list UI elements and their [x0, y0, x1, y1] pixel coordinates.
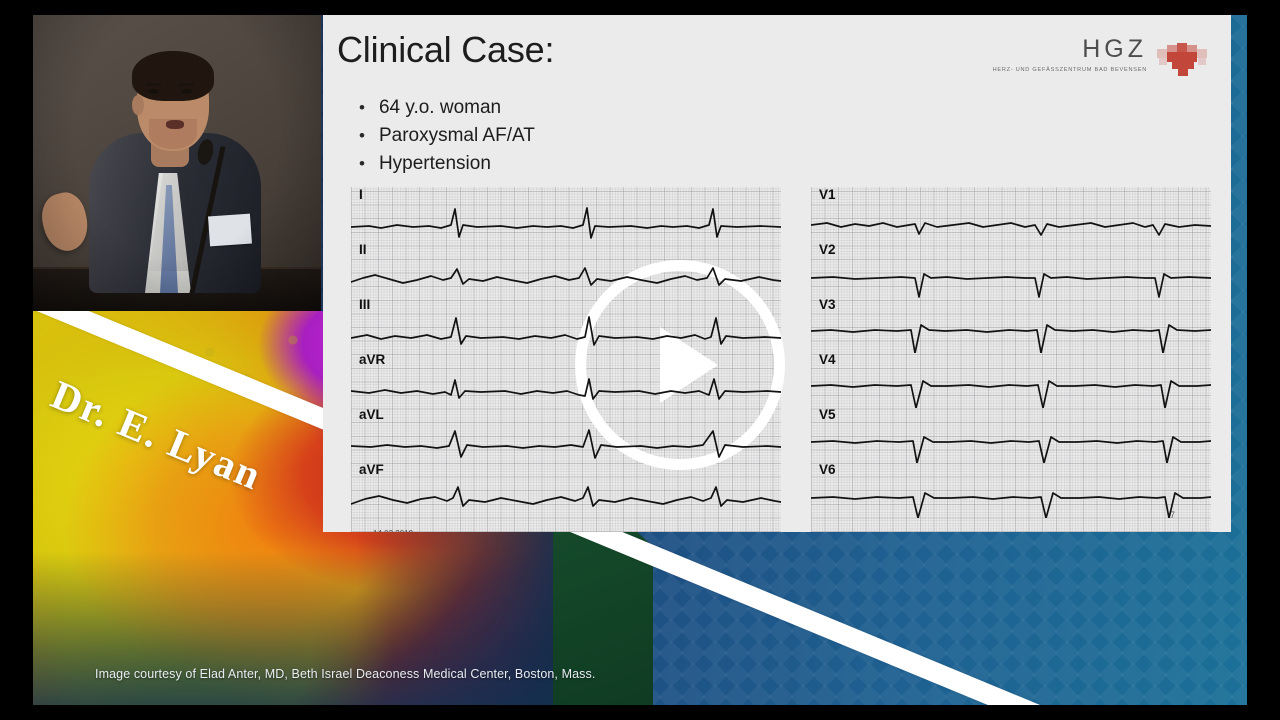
- ecg-lead-label: III: [359, 297, 370, 312]
- ecg-lead-II: II: [351, 242, 781, 297]
- hgz-subtitle: HERZ- UND GEFÄSSZENTRUM BAD BEVENSEN: [993, 67, 1147, 73]
- ecg-lead-label: V6: [819, 462, 836, 477]
- ecg-lead-I: I: [351, 187, 781, 242]
- bullet-text: 64 y.o. woman: [379, 97, 501, 119]
- ecg-lead-V1: V1: [811, 187, 1211, 242]
- ecg-lead-label: aVL: [359, 407, 384, 422]
- hgz-logo-text: HGZ HERZ- UND GEFÄSSZENTRUM BAD BEVENSEN: [993, 37, 1147, 73]
- bullet-marker-icon: •: [359, 127, 365, 144]
- ecg-lead-label: aVR: [359, 352, 385, 367]
- ecg-lead-label: V5: [819, 407, 836, 422]
- ecg-lead-label: V3: [819, 297, 836, 312]
- ecg-lead-label: V4: [819, 352, 836, 367]
- presentation-slide: Clinical Case: HGZ HERZ- UND GEFÄSSZENTR…: [323, 15, 1231, 532]
- hgz-logo: HGZ HERZ- UND GEFÄSSZENTRUM BAD BEVENSEN: [993, 37, 1215, 77]
- ecg-precordial-leads-column: V1 V2 V3 V4 V5: [811, 187, 1211, 532]
- ecg-lead-aVF: aVF: [351, 462, 781, 517]
- ecg-lead-label: II: [359, 242, 367, 257]
- ecg-lead-label: I: [359, 187, 363, 202]
- heart-icon: [1157, 39, 1215, 77]
- slide-bullet-list: • 64 y.o. woman • Paroxysmal AF/AT • Hyp…: [359, 97, 535, 181]
- ecg-lead-label: V2: [819, 242, 836, 257]
- bullet-marker-icon: •: [359, 99, 365, 116]
- bullet-text: Paroxysmal AF/AT: [379, 125, 535, 147]
- list-item: • Hypertension: [359, 153, 535, 175]
- image-credit-caption: Image courtesy of Elad Anter, MD, Beth I…: [95, 667, 595, 681]
- speaker-vignette: [33, 15, 321, 311]
- ecg-date: 14.02.2019: [373, 529, 413, 532]
- slide-title: Clinical Case:: [337, 29, 554, 71]
- bullet-marker-icon: •: [359, 155, 365, 172]
- video-player-stage: Dr. E. Lyan Image courtesy of Elad Anter…: [0, 0, 1280, 720]
- bullet-text: Hypertension: [379, 153, 491, 175]
- list-item: • Paroxysmal AF/AT: [359, 125, 535, 147]
- ecg-lead-V4: V4: [811, 352, 1211, 407]
- hgz-acronym: HGZ: [993, 37, 1147, 62]
- ecg-lead-V2: V2: [811, 242, 1211, 297]
- ecg-lead-V6: V6: [811, 462, 1211, 517]
- speaker-video-thumbnail: [33, 15, 321, 311]
- ecg-lead-V3: V3: [811, 297, 1211, 352]
- ecg-lead-V5: V5: [811, 407, 1211, 462]
- list-item: • 64 y.o. woman: [359, 97, 535, 119]
- ecg-lead-label: aVF: [359, 462, 384, 477]
- ecg-lead-label: V1: [819, 187, 836, 202]
